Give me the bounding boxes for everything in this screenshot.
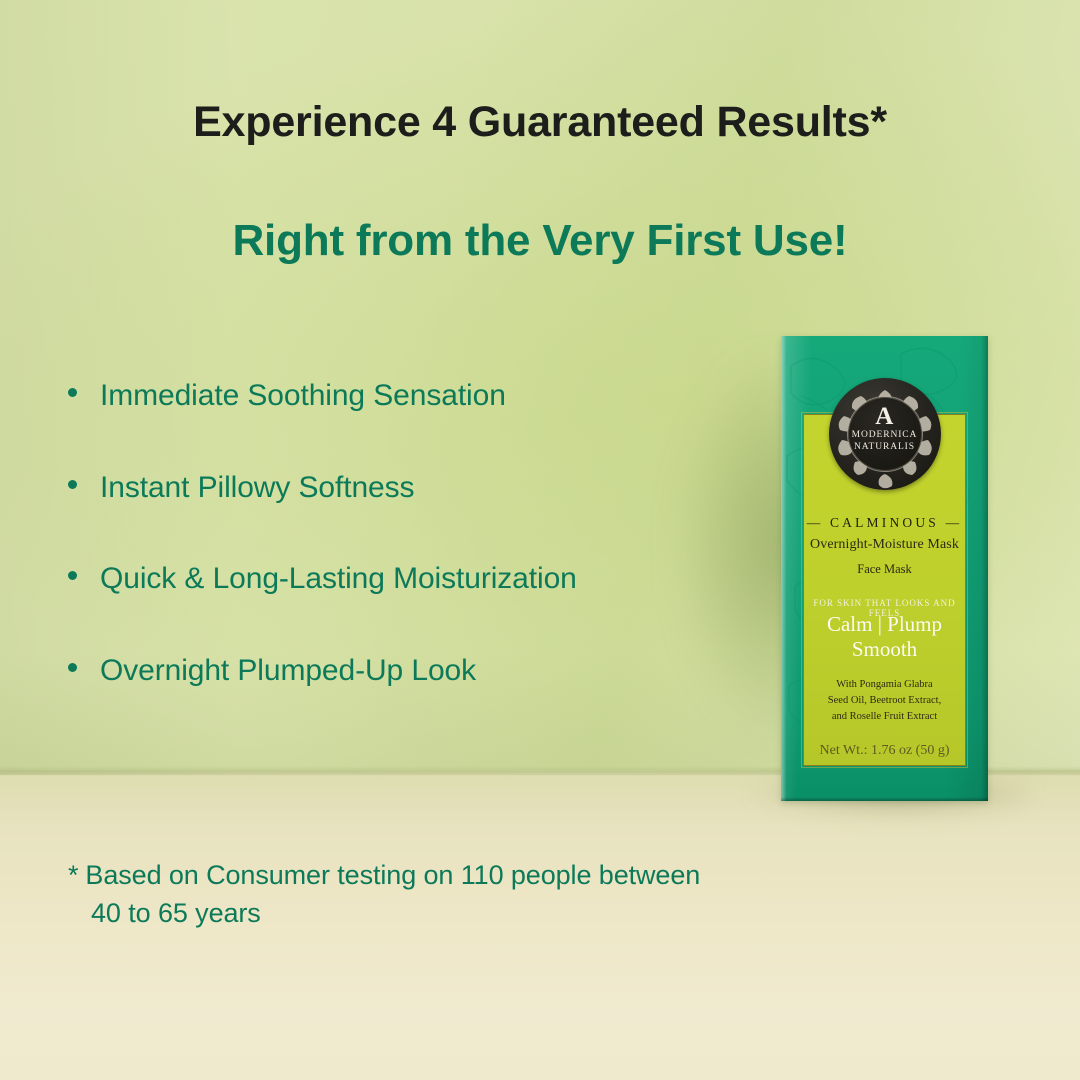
product-type: Face Mask — [804, 562, 965, 577]
benefit-label: Overnight Plumped-Up Look — [100, 655, 476, 687]
benefits-list: Immediate Soothing Sensation Instant Pil… — [68, 380, 768, 686]
list-item: Immediate Soothing Sensation — [68, 380, 768, 412]
claim-line-1: Calm | Plump — [804, 612, 965, 637]
brand-name: MODERNICA NATURALIS — [829, 430, 941, 453]
carton-right-shade — [981, 336, 988, 801]
brand-medallion: A MODERNICA NATURALIS — [829, 378, 941, 490]
page-subheadline: Right from the Very First Use! — [0, 216, 1080, 266]
product-box: — CALMINOUS — Overnight-Moisture Mask Fa… — [781, 336, 988, 801]
claim-line-2: Smooth — [804, 637, 965, 662]
list-item: Quick & Long-Lasting Moisturization — [68, 563, 768, 595]
benefit-label: Immediate Soothing Sensation — [100, 380, 506, 412]
ingredients-line-1: With Pongamia Glabra — [804, 677, 965, 693]
list-item: Instant Pillowy Softness — [68, 472, 768, 504]
list-item: Overnight Plumped-Up Look — [68, 655, 768, 687]
bullet-dot-icon — [68, 388, 77, 397]
footnote-line-1: Based on Consumer testing on 110 people … — [85, 860, 700, 890]
footnote-marker: * — [68, 860, 78, 890]
benefit-label: Instant Pillowy Softness — [100, 472, 414, 504]
ingredients: With Pongamia Glabra Seed Oil, Beetroot … — [804, 677, 965, 725]
promo-image: Experience 4 Guaranteed Results* Right f… — [0, 0, 1080, 1080]
bullet-dot-icon — [68, 480, 77, 489]
product-carton: — CALMINOUS — Overnight-Moisture Mask Fa… — [781, 336, 988, 801]
ingredients-line-3: and Roselle Fruit Extract — [804, 709, 965, 725]
footnote: *Based on Consumer testing on 110 people… — [68, 856, 948, 933]
brand-monogram: A — [829, 404, 941, 429]
brand-name-line-1: MODERNICA — [829, 430, 941, 442]
benefit-label: Quick & Long-Lasting Moisturization — [100, 563, 577, 595]
product-descriptor: Overnight-Moisture Mask — [804, 537, 965, 553]
brand-name-line-2: NATURALIS — [829, 442, 941, 454]
bullet-dot-icon — [68, 663, 77, 672]
page-headline: Experience 4 Guaranteed Results* — [0, 98, 1080, 147]
bullet-dot-icon — [68, 571, 77, 580]
carton-left-highlight — [781, 336, 786, 801]
net-weight: Net Wt.: 1.76 oz (50 g) — [804, 743, 965, 759]
ingredients-line-2: Seed Oil, Beetroot Extract, — [804, 693, 965, 709]
footnote-line-2: 40 to 65 years — [68, 894, 948, 932]
carton-bottom-shade — [781, 797, 988, 801]
product-name: — CALMINOUS — — [804, 515, 965, 531]
